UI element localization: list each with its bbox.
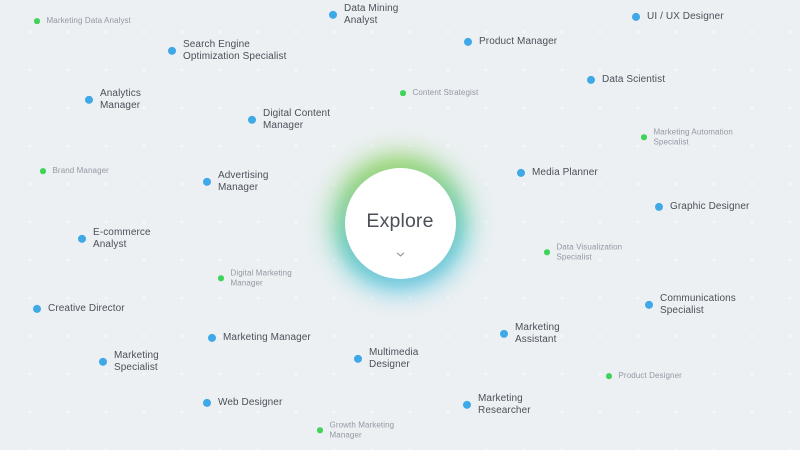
node-dot-blue	[517, 169, 525, 177]
node-dot-green	[218, 275, 224, 281]
node-label: Marketing Automation Specialist	[654, 127, 733, 147]
node-label: Product Manager	[479, 36, 557, 48]
node-dot-blue	[168, 47, 176, 55]
node-label: Data Visualization Specialist	[557, 242, 623, 262]
node-creative-director[interactable]: Creative Director	[33, 303, 125, 315]
node-dot-blue	[248, 116, 256, 124]
node-label: Content Strategist	[413, 88, 479, 98]
node-dot-blue	[645, 301, 653, 309]
node-label: Creative Director	[48, 303, 125, 315]
node-dot-blue	[208, 334, 216, 342]
node-marketing-assistant[interactable]: Marketing Assistant	[500, 322, 560, 346]
node-dot-green	[34, 18, 40, 24]
node-label: Communications Specialist	[660, 293, 736, 317]
node-dot-blue	[587, 76, 595, 84]
node-advertising-manager[interactable]: Advertising Manager	[203, 170, 269, 194]
node-marketing-manager[interactable]: Marketing Manager	[208, 332, 311, 344]
node-label: Digital Marketing Manager	[231, 268, 292, 288]
node-dot-blue	[655, 203, 663, 211]
node-data-scientist[interactable]: Data Scientist	[587, 74, 665, 86]
node-label: Marketing Specialist	[114, 350, 159, 374]
node-label: Marketing Data Analyst	[47, 16, 131, 26]
node-data-visualization-specialist[interactable]: Data Visualization Specialist	[544, 242, 622, 262]
node-dot-blue	[99, 358, 107, 366]
node-content-strategist[interactable]: Content Strategist	[400, 88, 478, 98]
node-data-mining-analyst[interactable]: Data Mining Analyst	[329, 3, 398, 27]
node-e-commerce-analyst[interactable]: E-commerce Analyst	[78, 227, 151, 251]
node-product-manager[interactable]: Product Manager	[464, 36, 557, 48]
node-graphic-designer[interactable]: Graphic Designer	[655, 201, 749, 213]
node-label: Analytics Manager	[100, 88, 141, 112]
node-analytics-manager[interactable]: Analytics Manager	[85, 88, 141, 112]
node-label: Product Designer	[619, 371, 682, 381]
node-marketing-researcher[interactable]: Marketing Researcher	[463, 393, 531, 417]
explore-button[interactable]: Explore	[345, 168, 456, 279]
node-web-designer[interactable]: Web Designer	[203, 397, 282, 409]
node-marketing-automation-specialist[interactable]: Marketing Automation Specialist	[641, 127, 733, 147]
node-dot-green	[641, 134, 647, 140]
node-dot-blue	[78, 235, 86, 243]
node-dot-blue	[33, 305, 41, 313]
node-label: Data Scientist	[602, 74, 665, 86]
node-label: Data Mining Analyst	[344, 3, 398, 27]
node-product-designer[interactable]: Product Designer	[606, 371, 682, 381]
node-label: E-commerce Analyst	[93, 227, 151, 251]
node-growth-marketing-manager[interactable]: Growth Marketing Manager	[317, 420, 394, 440]
node-dot-blue	[464, 38, 472, 46]
node-digital-marketing-manager[interactable]: Digital Marketing Manager	[218, 268, 292, 288]
node-dot-green	[606, 373, 612, 379]
node-dot-blue	[632, 13, 640, 21]
node-multimedia-designer[interactable]: Multimedia Designer	[354, 347, 418, 371]
node-marketing-data-analyst[interactable]: Marketing Data Analyst	[34, 16, 131, 26]
node-label: Advertising Manager	[218, 170, 269, 194]
node-label: Growth Marketing Manager	[330, 420, 395, 440]
node-dot-blue	[85, 96, 93, 104]
explore-button-wrapper: Explore	[305, 128, 495, 318]
node-media-planner[interactable]: Media Planner	[517, 167, 598, 179]
node-label: Marketing Manager	[223, 332, 311, 344]
node-dot-blue	[500, 330, 508, 338]
node-label: Web Designer	[218, 397, 282, 409]
node-dot-blue	[329, 11, 337, 19]
node-label: Media Planner	[532, 167, 598, 179]
node-communications-specialist[interactable]: Communications Specialist	[645, 293, 736, 317]
node-label: Graphic Designer	[670, 201, 749, 213]
node-label: Multimedia Designer	[369, 347, 418, 371]
node-marketing-specialist[interactable]: Marketing Specialist	[99, 350, 159, 374]
node-label: Marketing Researcher	[478, 393, 531, 417]
node-label: Marketing Assistant	[515, 322, 560, 346]
node-search-engine-optimization-specialist[interactable]: Search Engine Optimization Specialist	[168, 39, 286, 63]
explore-label: Explore	[366, 210, 433, 233]
node-label: UI / UX Designer	[647, 11, 724, 23]
node-dot-blue	[203, 399, 211, 407]
node-label: Search Engine Optimization Specialist	[183, 39, 286, 63]
node-dot-blue	[354, 355, 362, 363]
chevron-down-icon[interactable]	[396, 250, 405, 259]
node-brand-manager[interactable]: Brand Manager	[40, 166, 109, 176]
node-dot-green	[40, 168, 46, 174]
node-dot-blue	[203, 178, 211, 186]
node-dot-green	[544, 249, 550, 255]
node-ui-ux-designer[interactable]: UI / UX Designer	[632, 11, 724, 23]
node-dot-green	[400, 90, 406, 96]
node-dot-green	[317, 427, 323, 433]
node-label: Brand Manager	[53, 166, 109, 176]
node-dot-blue	[463, 401, 471, 409]
